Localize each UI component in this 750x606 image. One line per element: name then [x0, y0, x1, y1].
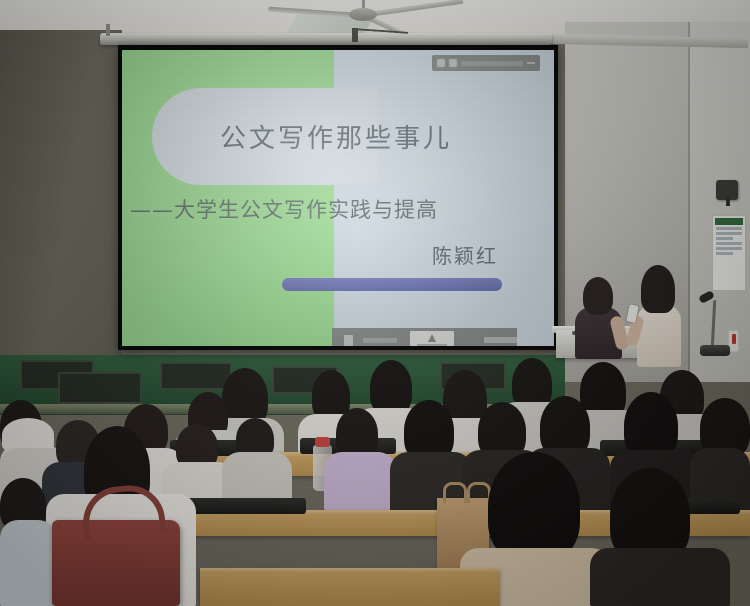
minimize-icon[interactable]: [527, 62, 535, 64]
upload-icon: [428, 334, 436, 342]
screen-roller: [100, 33, 552, 45]
fan-hub: [349, 8, 377, 21]
microphone-base: [700, 345, 730, 356]
slide-title: 公文写作那些事儿: [220, 118, 520, 155]
upload-card-label: [417, 344, 447, 346]
player-label: [363, 338, 397, 343]
notice-line: [716, 247, 742, 250]
player-bottom-bar[interactable]: [332, 328, 517, 346]
player-top-bar[interactable]: [432, 55, 540, 71]
slide-author: 陈颖红: [432, 240, 498, 269]
presenter-hair: [583, 277, 613, 315]
projection-screen: 公文写作那些事儿 ——大学生公文写作实践与提高 陈颖红: [122, 50, 554, 346]
upload-card[interactable]: [410, 331, 454, 346]
seat-back: [186, 498, 306, 514]
speaker-mount: [726, 196, 730, 206]
notice-line: [716, 237, 733, 240]
slide-accent-bar: [282, 278, 502, 291]
presenter-torso: [637, 305, 681, 367]
roller-bracket: [106, 24, 110, 36]
lecture-hall-photo: 公文写作那些事儿 ——大学生公文写作实践与提高 陈颖红: [0, 0, 750, 606]
play-icon[interactable]: [344, 335, 353, 346]
notice-line: [716, 232, 742, 235]
seat-frame: [160, 362, 232, 390]
player-title-text: [461, 61, 523, 66]
seat-frame: [58, 372, 142, 404]
notice-header: [715, 218, 743, 225]
notice-line: [716, 252, 733, 255]
wall-seam: [688, 22, 690, 382]
red-backpack: [52, 520, 180, 606]
slide-subtitle: ——大学生公文写作实践与提高: [130, 194, 550, 224]
timecode: [484, 337, 520, 343]
left-wall: [0, 30, 122, 370]
right-wall-panel: [690, 22, 750, 382]
notice-line: [716, 227, 742, 230]
desk-row: [200, 568, 500, 606]
bar-chart-icon: [437, 59, 445, 67]
wall-notice: [712, 215, 746, 291]
notice-line: [716, 242, 742, 245]
app-icon: [449, 59, 457, 67]
presenter-hair: [641, 265, 675, 313]
